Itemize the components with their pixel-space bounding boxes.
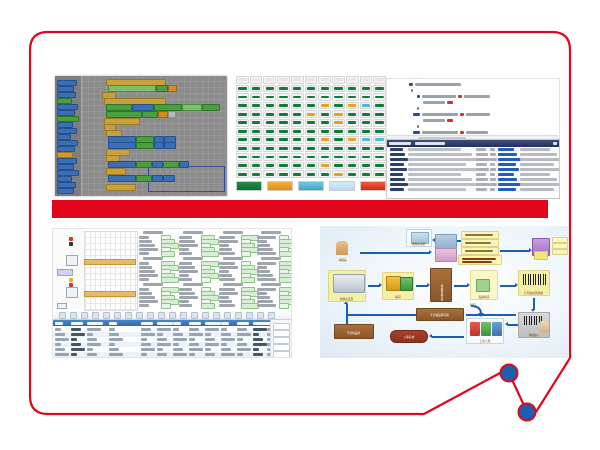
table-cell[interactable] — [71, 338, 77, 341]
table-cell[interactable] — [173, 348, 183, 351]
console-log-rows[interactable] — [387, 148, 559, 198]
canvas-block[interactable] — [106, 184, 136, 191]
node-order-clerk[interactable]: 採購員 — [330, 240, 356, 262]
field-value[interactable] — [201, 251, 219, 257]
status-cell[interactable] — [277, 136, 290, 144]
status-cell[interactable] — [318, 170, 331, 178]
status-cell[interactable] — [250, 85, 263, 93]
canvas-block[interactable] — [136, 175, 152, 182]
status-cell[interactable] — [263, 76, 276, 84]
toolbar-icon[interactable] — [125, 312, 132, 319]
toolbar-icon[interactable] — [224, 312, 231, 319]
table-cell[interactable] — [189, 343, 199, 346]
status-grid-screenshot[interactable] — [236, 76, 386, 198]
canvas-block[interactable] — [152, 175, 163, 182]
status-cell[interactable] — [236, 102, 249, 110]
table-row[interactable] — [53, 357, 291, 358]
status-cell[interactable] — [318, 110, 331, 118]
field-value[interactable] — [279, 277, 292, 283]
table-cell[interactable] — [189, 328, 199, 331]
table-cell[interactable] — [253, 343, 267, 346]
status-cell[interactable] — [346, 110, 359, 118]
status-cell[interactable] — [305, 136, 318, 144]
table-cell[interactable] — [237, 348, 251, 351]
table-cell[interactable] — [189, 353, 195, 356]
table-cell[interactable] — [157, 338, 167, 341]
toolbar-icon[interactable] — [70, 312, 77, 319]
status-cell[interactable] — [277, 162, 290, 170]
table-cell[interactable] — [205, 353, 215, 356]
status-cell[interactable] — [250, 119, 263, 127]
status-cell[interactable] — [360, 110, 373, 118]
field-value[interactable] — [201, 277, 211, 283]
status-cell[interactable] — [373, 145, 386, 153]
toolbar-icon[interactable] — [213, 312, 220, 319]
status-cell[interactable] — [360, 76, 373, 84]
table-column-header[interactable] — [141, 322, 153, 325]
table-cell[interactable] — [157, 328, 171, 331]
table-cell[interactable] — [157, 348, 163, 351]
canvas-block[interactable] — [158, 111, 168, 118]
field-value[interactable] — [161, 303, 171, 309]
canvas-block[interactable] — [202, 104, 220, 111]
table-column-header[interactable] — [71, 322, 83, 325]
toolbar-icon[interactable] — [191, 312, 198, 319]
status-cell[interactable] — [277, 110, 290, 118]
table-cell[interactable] — [173, 343, 179, 346]
status-cell[interactable] — [360, 102, 373, 110]
status-cell[interactable] — [318, 162, 331, 170]
table-side-button[interactable] — [273, 330, 290, 337]
status-cell[interactable] — [305, 162, 318, 170]
table-cell[interactable] — [141, 343, 151, 346]
log-row[interactable] — [388, 178, 558, 182]
toolbar-icon[interactable] — [59, 312, 66, 319]
status-cell[interactable] — [277, 170, 290, 178]
table-cell[interactable] — [237, 333, 251, 336]
canvas-block[interactable] — [179, 161, 189, 168]
status-cell[interactable] — [373, 170, 386, 178]
table-cell[interactable] — [189, 348, 203, 351]
table-cell[interactable] — [205, 343, 219, 346]
status-cell[interactable] — [236, 93, 249, 101]
status-cell[interactable] — [277, 93, 290, 101]
status-cell[interactable] — [360, 153, 373, 161]
node-erp-system[interactable] — [530, 238, 550, 260]
status-cell[interactable] — [346, 85, 359, 93]
canvas-block[interactable] — [154, 142, 164, 149]
toolbar-icon[interactable] — [268, 312, 275, 319]
node-handle-lower[interactable] — [66, 287, 78, 298]
field-value[interactable] — [201, 303, 215, 309]
toolbar-icon[interactable] — [246, 312, 253, 319]
table-cell[interactable] — [253, 353, 263, 356]
canvas-block[interactable] — [168, 85, 177, 92]
table-cell[interactable] — [253, 333, 259, 336]
status-cell[interactable] — [360, 85, 373, 93]
table-cell[interactable] — [141, 338, 147, 341]
status-cell[interactable] — [291, 128, 304, 136]
table-column-header[interactable] — [189, 322, 201, 325]
table-column-header[interactable] — [87, 322, 103, 325]
status-cell[interactable] — [346, 128, 359, 136]
status-cell[interactable] — [305, 128, 318, 136]
field-value[interactable] — [161, 277, 179, 283]
canvas-block[interactable] — [168, 111, 176, 118]
status-cell[interactable] — [305, 102, 318, 110]
status-cell[interactable] — [332, 162, 345, 170]
status-cell[interactable] — [236, 76, 249, 84]
status-cell[interactable] — [236, 153, 249, 161]
field-value[interactable] — [279, 303, 289, 309]
table-cell[interactable] — [71, 348, 85, 351]
status-cell[interactable] — [332, 128, 345, 136]
status-cell[interactable] — [236, 110, 249, 118]
status-cell[interactable] — [263, 85, 276, 93]
status-cell[interactable] — [277, 85, 290, 93]
status-cell[interactable] — [291, 119, 304, 127]
table-cell[interactable] — [173, 333, 183, 336]
status-cell[interactable] — [291, 153, 304, 161]
log-row[interactable] — [388, 183, 558, 187]
table-cell[interactable] — [87, 353, 97, 356]
status-cell[interactable] — [373, 85, 386, 93]
status-cell[interactable] — [318, 102, 331, 110]
status-cell[interactable] — [318, 76, 331, 84]
status-cell[interactable] — [332, 110, 345, 118]
table-cell[interactable] — [237, 328, 247, 331]
table-side-buttons[interactable] — [270, 320, 291, 357]
node-unloading[interactable]: 卸貨 — [382, 272, 414, 300]
status-cell[interactable] — [305, 170, 318, 178]
table-cell[interactable] — [189, 338, 195, 341]
status-cell[interactable] — [373, 128, 386, 136]
status-cell[interactable] — [346, 170, 359, 178]
blocks-palette[interactable] — [55, 76, 82, 196]
status-cell[interactable] — [305, 145, 318, 153]
canvas-block[interactable] — [108, 85, 156, 92]
status-cell[interactable] — [318, 93, 331, 101]
table-cell[interactable] — [221, 343, 227, 346]
status-grid[interactable] — [236, 76, 386, 178]
node-handle-upper[interactable] — [66, 255, 78, 266]
form-field-groups[interactable] — [139, 231, 289, 309]
status-cell[interactable] — [332, 93, 345, 101]
status-cell[interactable] — [346, 145, 359, 153]
status-cell[interactable] — [318, 153, 331, 161]
status-cell[interactable] — [291, 76, 304, 84]
status-cell[interactable] — [318, 145, 331, 153]
status-cell[interactable] — [373, 119, 386, 127]
table-cell[interactable] — [71, 343, 81, 346]
canvas-block[interactable] — [132, 104, 154, 111]
status-cell[interactable] — [332, 76, 345, 84]
status-cell[interactable] — [332, 102, 345, 110]
node-reject-area[interactable]: 不合格品暫存區 — [416, 308, 464, 321]
table-column-header[interactable] — [173, 322, 181, 325]
status-cell[interactable] — [332, 145, 345, 153]
status-cell[interactable] — [305, 85, 318, 93]
schedule-grid[interactable] — [84, 231, 138, 311]
status-cell[interactable] — [250, 128, 263, 136]
table-cell[interactable] — [87, 333, 93, 336]
form-side-controls[interactable] — [53, 229, 83, 309]
table-cell[interactable] — [87, 348, 93, 351]
toolbar-icon[interactable] — [103, 312, 110, 319]
toolbar-icon[interactable] — [81, 312, 88, 319]
status-cell[interactable] — [373, 162, 386, 170]
status-cell[interactable] — [250, 153, 263, 161]
status-cell[interactable] — [263, 153, 276, 161]
status-cell[interactable] — [373, 110, 386, 118]
canvas-block[interactable] — [164, 142, 176, 149]
canvas-block[interactable] — [163, 161, 179, 168]
status-cell[interactable] — [373, 136, 386, 144]
status-cell[interactable] — [236, 136, 249, 144]
status-cell[interactable] — [263, 128, 276, 136]
status-cell[interactable] — [332, 85, 345, 93]
status-cell[interactable] — [236, 162, 249, 170]
status-cell[interactable] — [373, 153, 386, 161]
node-putaway[interactable]: 上架入庫 — [466, 318, 504, 344]
status-cell[interactable] — [332, 153, 345, 161]
gantt-bar-2[interactable] — [84, 291, 136, 297]
toolbar-icon[interactable] — [92, 312, 99, 319]
node-sorting-area[interactable]: 分貨理貨作業 — [430, 268, 452, 302]
table-cell[interactable] — [141, 353, 147, 356]
table-cell[interactable] — [237, 338, 243, 341]
table-cell[interactable] — [157, 353, 167, 356]
canvas-block[interactable] — [152, 161, 163, 168]
status-cell[interactable] — [346, 102, 359, 110]
table-cell[interactable] — [221, 348, 231, 351]
node-quality-check[interactable]: 點驗收貨 — [470, 270, 498, 300]
table-column-header[interactable] — [157, 322, 173, 325]
status-cell[interactable] — [346, 119, 359, 127]
status-cell[interactable] — [346, 76, 359, 84]
toolbar-icon[interactable] — [169, 312, 176, 319]
status-cell[interactable] — [277, 153, 290, 161]
status-cell[interactable] — [360, 136, 373, 144]
status-cell[interactable] — [263, 162, 276, 170]
status-cell[interactable] — [332, 170, 345, 178]
status-cell[interactable] — [263, 93, 276, 101]
canvas-block[interactable] — [106, 111, 142, 118]
table-cell[interactable] — [205, 348, 211, 351]
field-value[interactable] — [161, 251, 175, 257]
status-cell[interactable] — [346, 162, 359, 170]
table-cell[interactable] — [55, 333, 65, 336]
table-side-button[interactable] — [273, 337, 290, 344]
table-cell[interactable] — [173, 338, 187, 341]
status-cell[interactable] — [360, 93, 373, 101]
table-side-button[interactable] — [273, 344, 290, 351]
table-cell[interactable] — [109, 328, 115, 331]
status-cell[interactable] — [291, 170, 304, 178]
status-cell[interactable] — [360, 128, 373, 136]
node-supplier-system[interactable]: 供應商系統 — [406, 229, 432, 247]
table-column-header[interactable] — [109, 322, 117, 325]
status-cell[interactable] — [360, 170, 373, 178]
status-cell[interactable] — [250, 136, 263, 144]
canvas-block[interactable] — [163, 175, 175, 182]
status-cell[interactable] — [277, 145, 290, 153]
table-cell[interactable] — [141, 348, 155, 351]
table-cell[interactable] — [237, 343, 247, 346]
status-cell[interactable] — [346, 153, 359, 161]
table-cell[interactable] — [157, 343, 171, 346]
toolbar-chip[interactable] — [57, 303, 67, 309]
field-value[interactable] — [241, 277, 255, 283]
node-barcode-label[interactable]: 打印貼條碼標籤 — [518, 270, 550, 296]
status-cell[interactable] — [346, 136, 359, 144]
status-cell[interactable] — [250, 102, 263, 110]
table-cell[interactable] — [237, 353, 243, 356]
status-cell[interactable] — [236, 145, 249, 153]
table-cell[interactable] — [221, 353, 235, 356]
node-label-chip[interactable] — [57, 269, 73, 276]
table-cell[interactable] — [141, 328, 151, 331]
table-cell[interactable] — [71, 333, 85, 336]
node-receiving-desk[interactable] — [432, 234, 458, 262]
status-cell[interactable] — [318, 128, 331, 136]
status-cell[interactable] — [305, 76, 318, 84]
table-cell[interactable] — [87, 328, 101, 331]
canvas-block[interactable] — [136, 161, 152, 168]
status-cell[interactable] — [250, 76, 263, 84]
node-reject-warehouse[interactable]: 不合格品庫 — [334, 324, 374, 339]
canvas-block[interactable] — [142, 111, 158, 118]
table-cell[interactable] — [55, 328, 61, 331]
status-cell[interactable] — [236, 170, 249, 178]
table-cell[interactable] — [205, 333, 211, 336]
status-cell[interactable] — [263, 110, 276, 118]
toolbar-icon[interactable] — [202, 312, 209, 319]
canvas-block[interactable] — [154, 104, 182, 111]
status-cell[interactable] — [318, 119, 331, 127]
status-cell[interactable] — [305, 119, 318, 127]
table-cell[interactable] — [109, 353, 123, 356]
status-cell[interactable] — [332, 119, 345, 127]
canvas-block[interactable] — [108, 161, 136, 168]
toolbar-icon[interactable] — [147, 312, 154, 319]
status-cell[interactable] — [291, 102, 304, 110]
table-cell[interactable] — [71, 353, 77, 356]
status-cell[interactable] — [236, 128, 249, 136]
table-cell[interactable] — [87, 343, 101, 346]
status-cell[interactable] — [305, 153, 318, 161]
toolbar-icon[interactable] — [114, 312, 121, 319]
status-cell[interactable] — [250, 145, 263, 153]
status-cell[interactable] — [250, 162, 263, 170]
table-cell[interactable] — [253, 328, 267, 331]
canvas-block[interactable] — [182, 104, 202, 111]
status-cell[interactable] — [291, 85, 304, 93]
data-table[interactable] — [53, 311, 291, 357]
console-log-screenshot[interactable] — [386, 139, 560, 199]
status-cell[interactable] — [373, 102, 386, 110]
table-cell[interactable] — [109, 338, 123, 341]
gantt-bar-1[interactable] — [84, 259, 136, 265]
status-cell[interactable] — [250, 93, 263, 101]
table-cell[interactable] — [253, 348, 259, 351]
table-cell[interactable] — [253, 338, 263, 341]
table-cell[interactable] — [55, 348, 65, 351]
node-inbound-truck[interactable]: 供應商送貨 — [328, 270, 366, 302]
toolbar-icon[interactable] — [136, 312, 143, 319]
status-cell[interactable] — [318, 85, 331, 93]
table-cell[interactable] — [221, 333, 231, 336]
table-column-header[interactable] — [205, 322, 221, 325]
log-row[interactable] — [388, 148, 558, 152]
canvas-block[interactable] — [106, 168, 126, 175]
log-row[interactable] — [388, 163, 558, 167]
status-cell[interactable] — [277, 102, 290, 110]
table-cell[interactable] — [141, 333, 155, 336]
status-cell[interactable] — [305, 110, 318, 118]
status-cell[interactable] — [263, 102, 276, 110]
status-cell[interactable] — [291, 136, 304, 144]
palette-block[interactable] — [57, 188, 74, 194]
blocks-editor-screenshot[interactable] — [55, 76, 227, 196]
status-cell[interactable] — [291, 110, 304, 118]
status-cell[interactable] — [236, 119, 249, 127]
status-cell[interactable] — [360, 119, 373, 127]
status-cell[interactable] — [291, 145, 304, 153]
status-cell[interactable] — [277, 128, 290, 136]
status-cell[interactable] — [346, 93, 359, 101]
node-scan-station[interactable]: 掃描錄入 — [518, 312, 550, 338]
table-column-header[interactable] — [221, 322, 229, 325]
table-cell[interactable] — [157, 333, 163, 336]
toolbar-icon[interactable] — [158, 312, 165, 319]
status-cell[interactable] — [373, 76, 386, 84]
table-cell[interactable] — [173, 328, 179, 331]
status-cell[interactable] — [291, 93, 304, 101]
field-value[interactable] — [241, 251, 251, 257]
node-inbound-complete[interactable]: 入庫完成 — [390, 330, 428, 343]
code-editor-screenshot[interactable] — [386, 78, 560, 142]
table-cell[interactable] — [55, 353, 69, 356]
table-side-button[interactable] — [273, 351, 290, 358]
canvas-block[interactable] — [106, 104, 132, 111]
log-row[interactable] — [388, 158, 558, 162]
status-cell[interactable] — [360, 162, 373, 170]
table-cell[interactable] — [109, 333, 119, 336]
status-cell[interactable] — [332, 136, 345, 144]
canvas-block[interactable] — [108, 142, 136, 149]
blocks-canvas[interactable] — [82, 76, 227, 196]
log-row[interactable] — [388, 173, 558, 177]
table-cell[interactable] — [109, 343, 115, 346]
close-icon[interactable] — [553, 142, 557, 145]
table-cell[interactable] — [205, 338, 215, 341]
table-cell[interactable] — [109, 348, 119, 351]
status-cell[interactable] — [277, 76, 290, 84]
status-cell[interactable] — [263, 170, 276, 178]
table-cell[interactable] — [55, 338, 69, 341]
log-row[interactable] — [388, 188, 558, 192]
toolbar-icon[interactable] — [235, 312, 242, 319]
table-cell[interactable] — [205, 328, 219, 331]
table-cell[interactable] — [87, 338, 97, 341]
production-form-screenshot[interactable] — [52, 228, 292, 358]
table-side-button[interactable] — [273, 323, 290, 330]
canvas-block[interactable] — [136, 142, 154, 149]
table-column-header[interactable] — [237, 322, 249, 325]
status-cell[interactable] — [250, 170, 263, 178]
log-row[interactable] — [388, 168, 558, 172]
